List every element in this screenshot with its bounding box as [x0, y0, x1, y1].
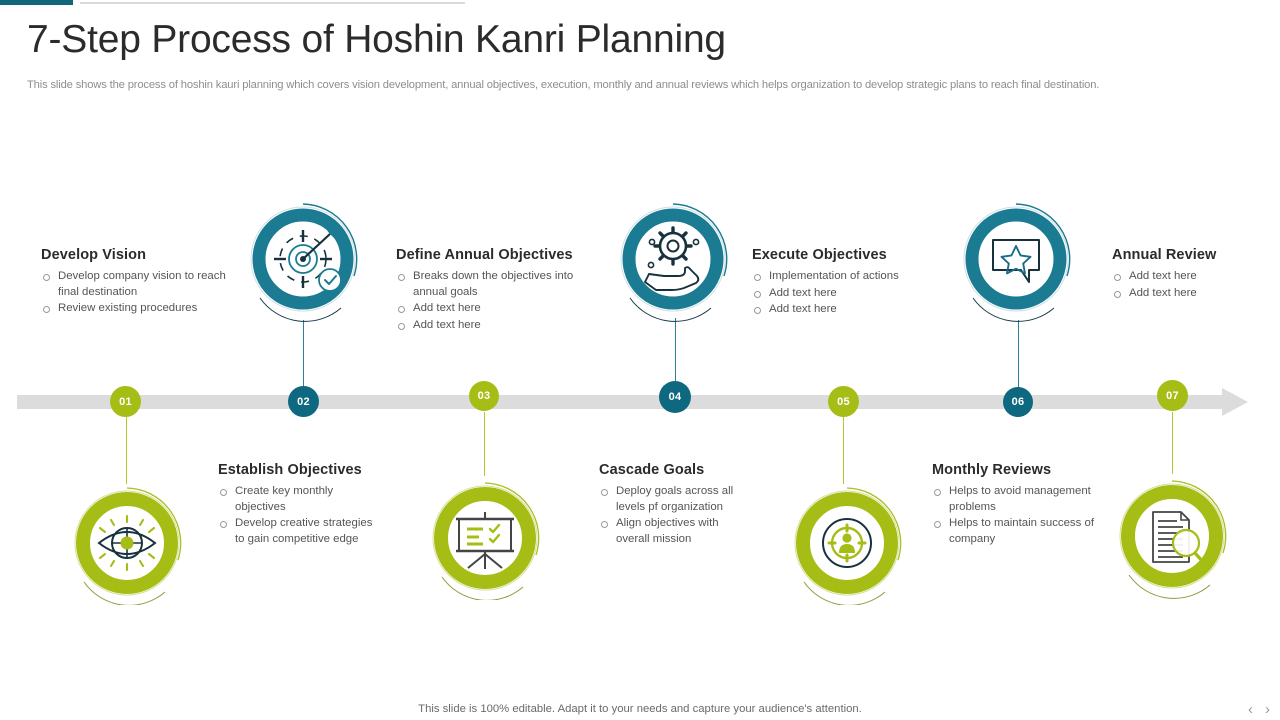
speech-bubble-star-icon	[959, 196, 1079, 324]
timeline-badge-05[interactable]: 05	[828, 386, 859, 417]
bullet-item: Helps to maintain success of company	[932, 516, 1107, 547]
icon-circle-step-07	[1111, 473, 1235, 599]
bullet-item: Add text here	[752, 302, 952, 318]
bullet-item: Develop company vision to reach final de…	[41, 269, 241, 300]
step-block-05: Execute Objectives Implementation of act…	[752, 247, 952, 319]
badge-label-05: 05	[837, 396, 850, 408]
slide-navigation: ‹ ›	[1248, 702, 1270, 717]
badge-label-07: 07	[1166, 390, 1179, 402]
connector-stem-04	[675, 318, 676, 388]
badge-label-01: 01	[119, 396, 132, 408]
icon-circle-step-05	[786, 481, 908, 605]
step-title-05: Execute Objectives	[752, 247, 952, 263]
slide-canvas: 7-Step Process of Hoshin Kanri Planning …	[0, 0, 1280, 720]
next-slide-arrow-icon[interactable]: ›	[1265, 702, 1270, 717]
step-bullets-07: Add text here Add text here	[1112, 269, 1272, 301]
bullet-item: Create key monthly objectives	[218, 484, 383, 515]
badge-label-06: 06	[1012, 396, 1025, 408]
prev-slide-arrow-icon[interactable]: ‹	[1248, 702, 1253, 717]
document-magnifier-icon	[1111, 473, 1235, 599]
bullet-item: Add text here	[752, 286, 952, 302]
bullet-item: Add text here	[1112, 286, 1272, 302]
timeline-badge-03[interactable]: 03	[469, 381, 499, 411]
page-subtitle: This slide shows the process of hoshin k…	[27, 79, 1099, 91]
icon-circle-step-06	[959, 196, 1079, 324]
timeline-badge-01[interactable]: 01	[110, 386, 141, 417]
eye-target-icon	[66, 481, 188, 605]
step-title-06: Monthly Reviews	[932, 462, 1107, 478]
step-bullets-01: Develop company vision to reach final de…	[41, 269, 241, 317]
timeline-badge-06[interactable]: 06	[1003, 387, 1033, 417]
step-block-03: Define Annual Objectives Breaks down the…	[396, 247, 601, 335]
icon-circle-step-02	[246, 196, 366, 324]
bullet-item: Review existing procedures	[41, 301, 241, 317]
bullet-item: Add text here	[396, 301, 601, 317]
connector-stem-07	[1172, 412, 1173, 474]
step-bullets-04: Deploy goals across all levels pf organi…	[599, 484, 751, 548]
footer-note: This slide is 100% editable. Adapt it to…	[0, 703, 1280, 715]
bullet-item: Align objectives with overall mission	[599, 516, 751, 547]
timeline-badge-04[interactable]: 04	[659, 381, 691, 413]
bullet-item: Deploy goals across all levels pf organi…	[599, 484, 751, 515]
step-block-07: Annual Review Add text here Add text her…	[1112, 247, 1272, 302]
step-title-02: Establish Objectives	[218, 462, 383, 478]
connector-stem-03	[484, 412, 485, 476]
connector-stem-06	[1018, 320, 1019, 390]
step-block-01: Develop Vision Develop company vision to…	[41, 247, 241, 318]
timeline-badge-02[interactable]: 02	[288, 386, 319, 417]
bullet-item: Develop creative strategies to gain comp…	[218, 516, 383, 547]
icon-circle-step-01	[66, 481, 188, 605]
step-title-01: Develop Vision	[41, 247, 241, 263]
step-block-06: Monthly Reviews Helps to avoid managemen…	[932, 462, 1107, 549]
accent-bar-teal	[0, 0, 73, 5]
badge-label-03: 03	[478, 390, 491, 402]
bullet-item: Helps to avoid management problems	[932, 484, 1107, 515]
step-bullets-02: Create key monthly objectives Develop cr…	[218, 484, 383, 548]
connector-stem-01	[126, 412, 127, 484]
badge-label-04: 04	[669, 391, 682, 403]
timeline-badge-07[interactable]: 07	[1157, 380, 1188, 411]
bullet-item: Add text here	[1112, 269, 1272, 285]
target-arrow-check-icon	[246, 196, 366, 324]
accent-bar-grey	[80, 2, 465, 4]
step-block-04: Cascade Goals Deploy goals across all le…	[599, 462, 751, 549]
bullet-item: Breaks down the objectives into annual g…	[396, 269, 601, 300]
step-bullets-05: Implementation of actions Add text here …	[752, 269, 952, 318]
connector-stem-05	[843, 412, 844, 484]
badge-label-02: 02	[297, 396, 310, 408]
icon-circle-step-04	[616, 196, 736, 324]
step-title-07: Annual Review	[1112, 247, 1272, 263]
person-crosshair-icon	[786, 481, 908, 605]
bullet-item: Implementation of actions	[752, 269, 952, 285]
timeline-bar	[17, 395, 1228, 409]
connector-stem-02	[303, 320, 304, 390]
step-title-04: Cascade Goals	[599, 462, 751, 478]
bullet-item: Add text here	[396, 318, 601, 334]
timeline-arrow-head	[1222, 388, 1248, 416]
icon-circle-step-03	[425, 476, 547, 600]
presentation-checklist-icon	[425, 476, 547, 600]
hand-gear-icon	[616, 196, 736, 324]
step-title-03: Define Annual Objectives	[396, 247, 601, 263]
page-title: 7-Step Process of Hoshin Kanri Planning	[27, 18, 726, 62]
step-bullets-06: Helps to avoid management problems Helps…	[932, 484, 1107, 548]
step-bullets-03: Breaks down the objectives into annual g…	[396, 269, 601, 334]
step-block-02: Establish Objectives Create key monthly …	[218, 462, 383, 549]
